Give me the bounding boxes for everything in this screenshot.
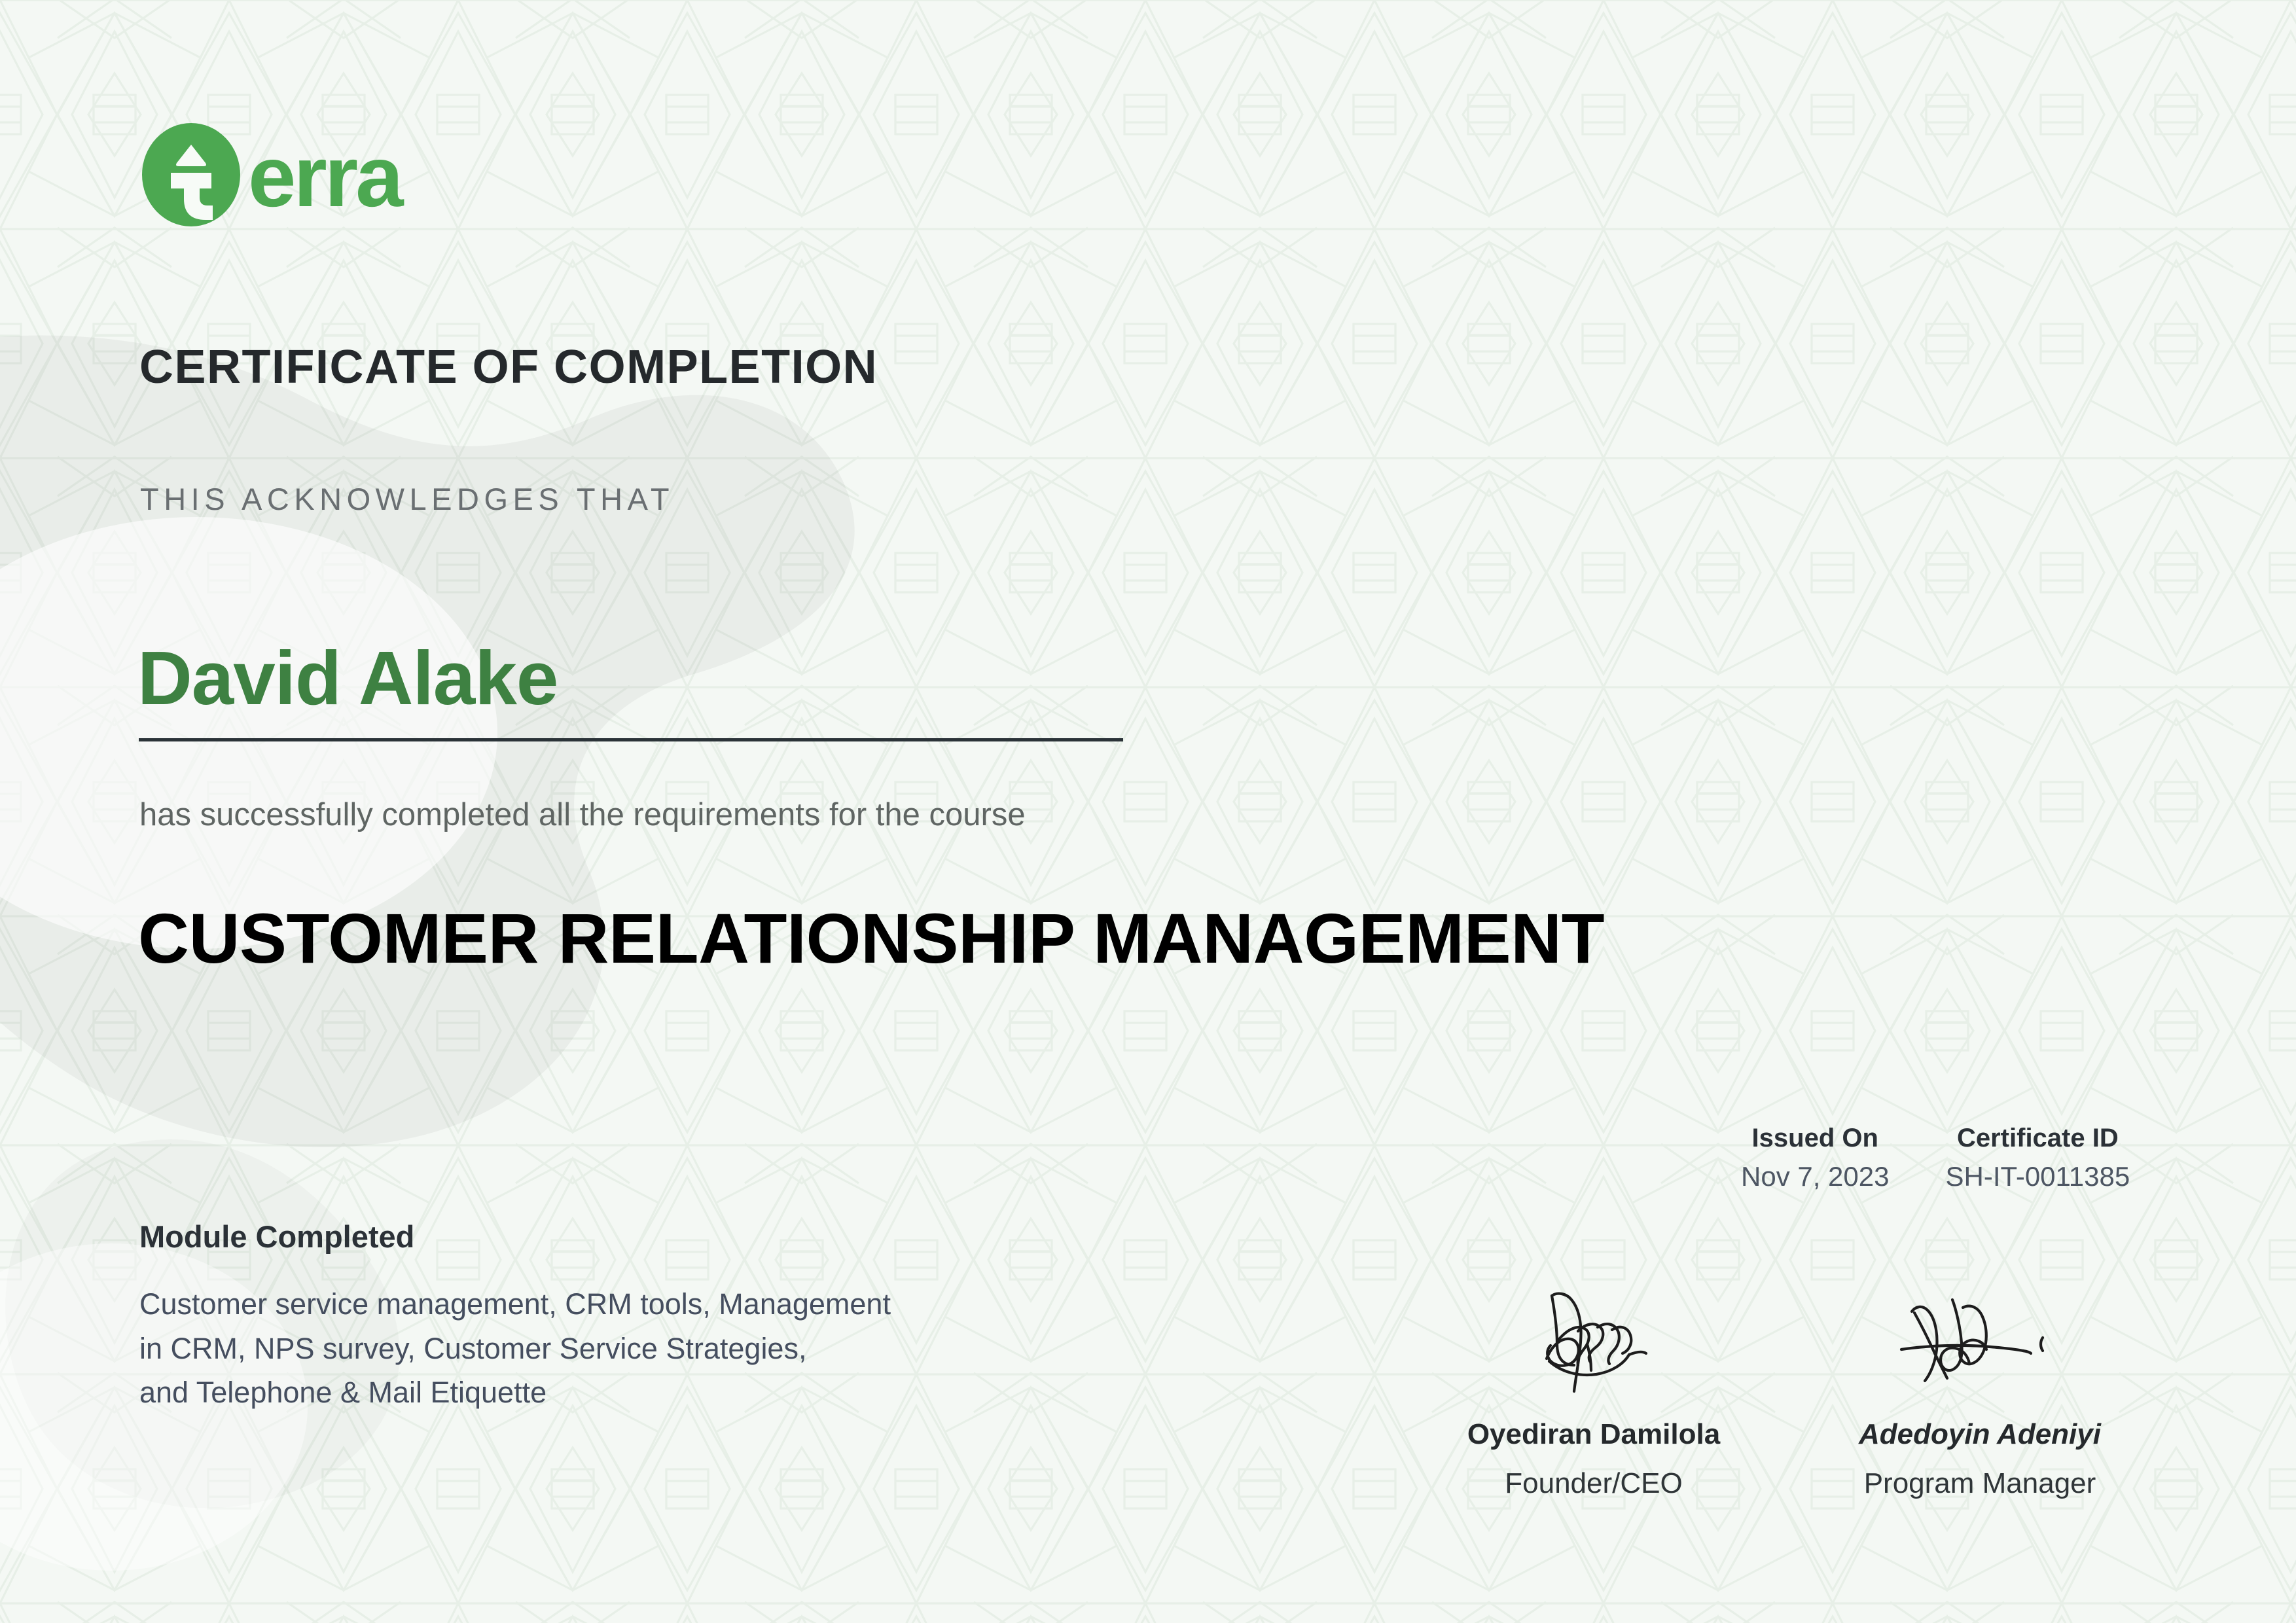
name-underline-rule xyxy=(139,738,1123,741)
module-line: and Telephone & Mail Etiquette xyxy=(139,1370,891,1415)
signatory-role: Founder/CEO xyxy=(1401,1465,1787,1501)
signatory-name: Oyediran Damilola xyxy=(1401,1416,1787,1452)
terra-leaf-t-icon xyxy=(139,123,243,226)
signature-block-founder: Oyediran Damilola Founder/CEO xyxy=(1401,1288,1787,1501)
completion-statement: has successfully completed all the requi… xyxy=(139,796,1026,833)
handwritten-signature-damilola-icon xyxy=(1401,1288,1787,1399)
issued-on-column: Issued On Nov 7, 2023 xyxy=(1741,1119,1890,1197)
page-title: CERTIFICATE OF COMPLETION xyxy=(139,340,878,394)
module-completed-section: Module Completed Customer service manage… xyxy=(139,1219,891,1415)
signatory-name: Adedoyin Adeniyi xyxy=(1787,1416,2173,1452)
certificate-meta: Issued On Nov 7, 2023 Certificate ID SH-… xyxy=(1741,1119,2130,1197)
certificate-id-value: SH-IT-0011385 xyxy=(1946,1157,2130,1197)
course-title: CUSTOMER RELATIONSHIP MANAGEMENT xyxy=(138,898,1604,979)
module-heading: Module Completed xyxy=(139,1219,891,1255)
signature-block-program-manager: Adedoyin Adeniyi Program Manager xyxy=(1787,1288,2173,1501)
brand-logo: erra xyxy=(139,123,401,226)
issued-on-value: Nov 7, 2023 xyxy=(1741,1157,1890,1197)
signatory-role: Program Manager xyxy=(1787,1465,2173,1501)
module-line: Customer service management, CRM tools, … xyxy=(139,1282,891,1327)
certificate-id-column: Certificate ID SH-IT-0011385 xyxy=(1946,1119,2130,1197)
handwritten-signature-adedoyin-icon xyxy=(1787,1288,2173,1399)
recipient-name: David Alake xyxy=(137,640,558,716)
signature-row: Oyediran Damilola Founder/CEO xyxy=(1401,1288,2173,1501)
module-line: in CRM, NPS survey, Customer Service Str… xyxy=(139,1327,891,1371)
brand-wordmark: erra xyxy=(248,134,401,220)
certificate-page: erra CERTIFICATE OF COMPLETION THIS ACKN… xyxy=(0,0,2296,1623)
acknowledgement-text: THIS ACKNOWLEDGES THAT xyxy=(140,481,674,517)
issued-on-label: Issued On xyxy=(1741,1119,1890,1157)
certificate-id-label: Certificate ID xyxy=(1946,1119,2130,1157)
